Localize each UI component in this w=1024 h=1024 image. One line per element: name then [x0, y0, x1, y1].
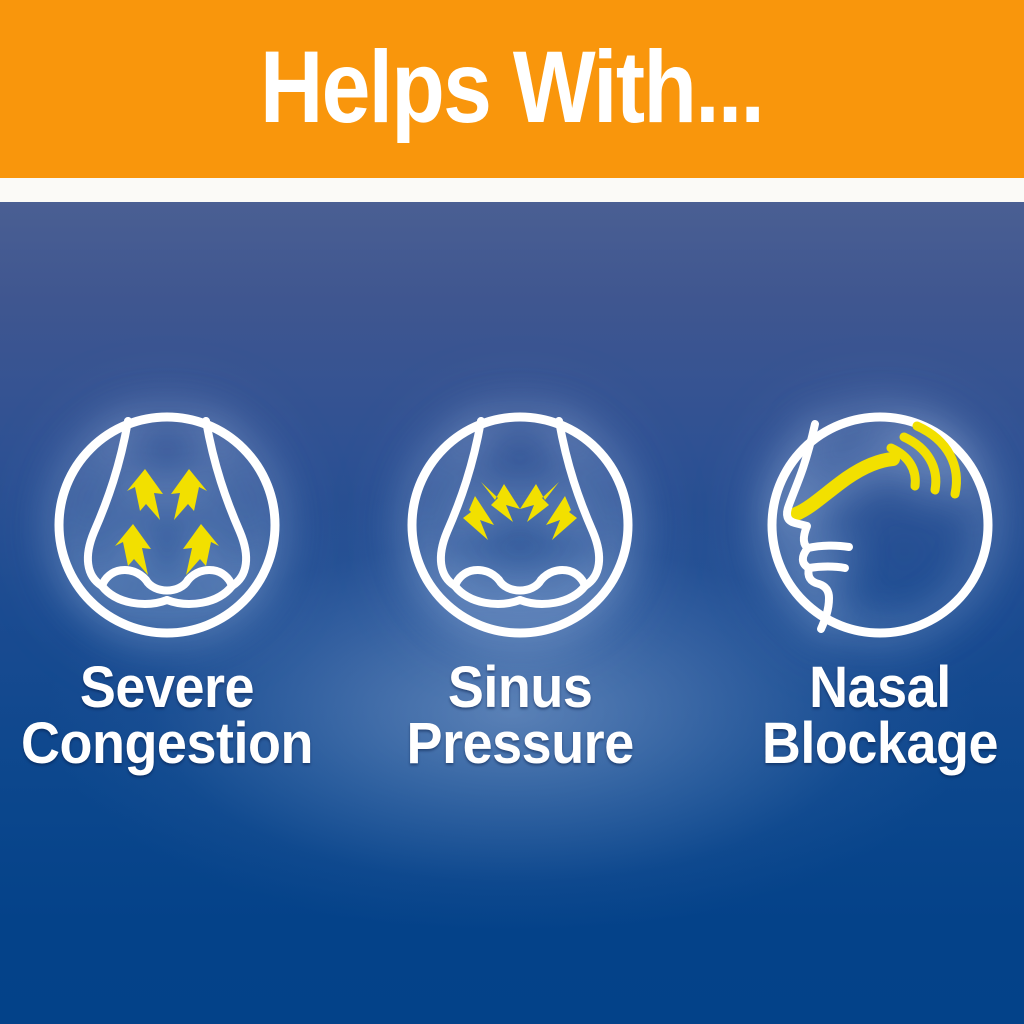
- benefit-item-nasal-blockage: Nasal Blockage: [720, 408, 1024, 771]
- page-title: Helps With...: [260, 36, 763, 138]
- benefits-row: Severe Congestion: [0, 202, 1024, 1024]
- head-profile-airway-waves-icon: [763, 408, 997, 642]
- benefit-label: Severe Congestion: [21, 660, 313, 771]
- helps-with-poster: Helps With...: [0, 0, 1024, 1024]
- benefits-stage: Severe Congestion: [0, 202, 1024, 1024]
- benefit-label: Nasal Blockage: [762, 660, 998, 771]
- nose-lightning-bolts-icon: [403, 408, 637, 642]
- benefit-item-severe-congestion: Severe Congestion: [7, 408, 327, 771]
- benefit-item-sinus-pressure: Sinus Pressure: [360, 408, 680, 771]
- header-band: Helps With...: [0, 0, 1024, 178]
- benefit-label: Sinus Pressure: [406, 660, 633, 771]
- nose-upward-arrows-icon: [50, 408, 284, 642]
- header-divider: [0, 178, 1024, 202]
